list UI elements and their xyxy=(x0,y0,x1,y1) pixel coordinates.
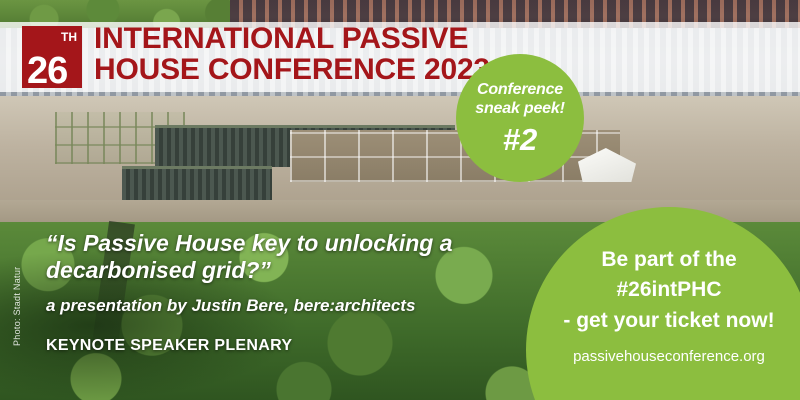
photo-credit: Photo: Stadt Natur xyxy=(12,236,22,346)
photo-solar-roof-small xyxy=(122,166,272,204)
keynote-quote: “Is Passive House key to unlocking a dec… xyxy=(46,230,466,284)
sneak-peek-line-2: sneak peek! xyxy=(475,100,564,118)
conference-promo-poster: TH 26 INTERNATIONAL PASSIVE HOUSE CONFER… xyxy=(0,0,800,400)
quote-line-1: “Is Passive House key to unlocking a xyxy=(46,230,453,256)
cta-line-3: - get your ticket now! xyxy=(563,306,774,336)
sneak-peek-number: #2 xyxy=(503,124,537,155)
title-line-1: INTERNATIONAL PASSIVE xyxy=(94,24,490,53)
cta-hashtag: #26intPHC xyxy=(616,275,721,305)
quote-line-2: decarbonised grid?” xyxy=(46,257,271,283)
conference-website-link[interactable]: passivehouseconference.org xyxy=(573,348,765,365)
sneak-peek-badge: Conference sneak peek! #2 xyxy=(456,54,584,182)
title-line-2: HOUSE CONFERENCE 2023 xyxy=(94,55,490,84)
edition-number: 26 xyxy=(27,52,67,90)
cta-line-1: Be part of the xyxy=(601,245,736,275)
header-band: TH 26 INTERNATIONAL PASSIVE HOUSE CONFER… xyxy=(0,22,800,92)
edition-suffix: TH xyxy=(61,30,77,44)
edition-logo: TH 26 xyxy=(22,26,82,88)
session-type-label: KEYNOTE SPEAKER PLENARY xyxy=(46,337,292,355)
sneak-peek-line-1: Conference xyxy=(477,81,563,99)
speaker-byline: a presentation by Justin Bere, bere:arch… xyxy=(46,296,415,316)
page-title: INTERNATIONAL PASSIVE HOUSE CONFERENCE 2… xyxy=(94,24,490,85)
